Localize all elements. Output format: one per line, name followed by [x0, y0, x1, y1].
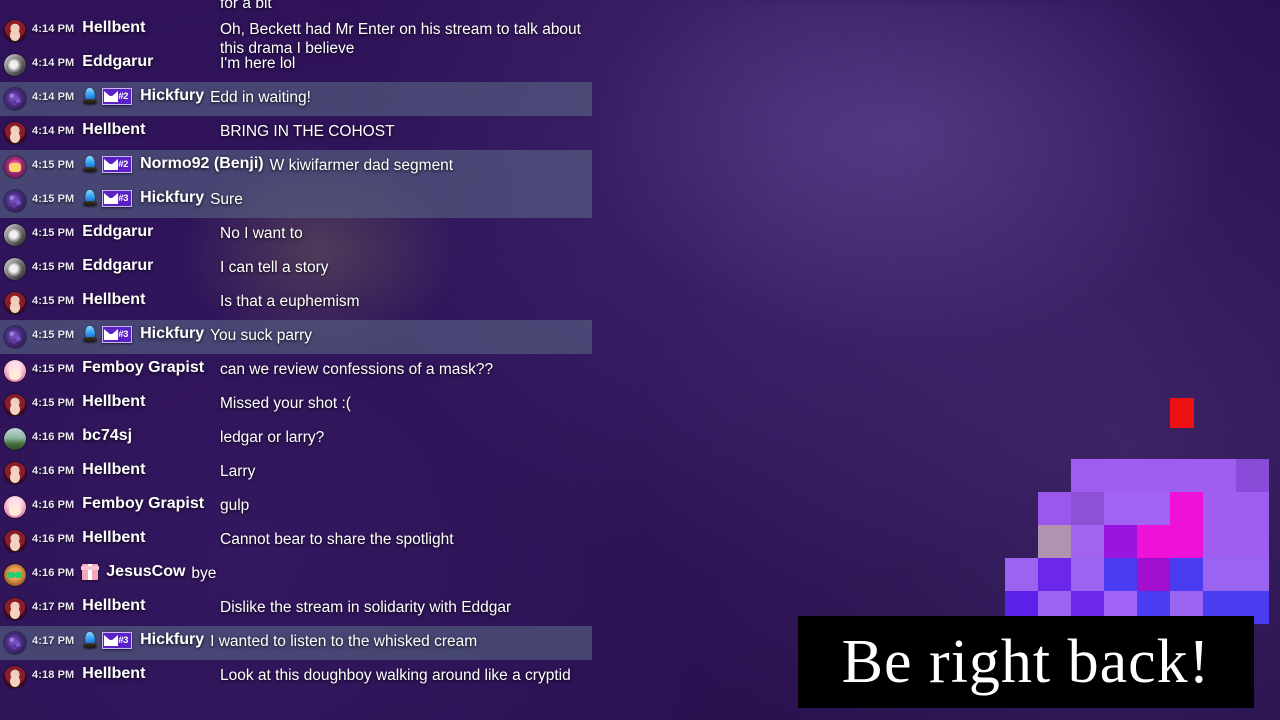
message-timestamp: 4:16 PM — [32, 465, 74, 477]
be-right-back-card: Be right back! — [798, 388, 1254, 708]
avatar[interactable] — [4, 224, 26, 246]
message-body: Missed your shot :( — [220, 394, 584, 413]
avatar[interactable] — [4, 530, 26, 552]
chat-message-row[interactable]: 4:17 PMHellbentDislike the stream in sol… — [0, 592, 592, 626]
avatar[interactable] — [4, 666, 26, 688]
message-username[interactable]: Hickfury — [140, 189, 204, 207]
flame-icon[interactable] — [82, 88, 98, 105]
crown-icon — [104, 635, 118, 646]
message-timestamp: 4:14 PM — [32, 91, 74, 103]
art-pixel — [1137, 525, 1203, 558]
art-pixel — [1104, 492, 1170, 525]
chat-message-row[interactable]: 4:15 PMEddgarurI can tell a story — [0, 252, 592, 286]
crown-icon — [104, 193, 118, 204]
rank-label: #3 — [118, 636, 129, 646]
message-text: Edd in waiting! — [210, 88, 592, 107]
flame-icon[interactable] — [82, 190, 98, 207]
be-right-back-banner: Be right back! — [798, 616, 1254, 708]
chat-message-row[interactable]: 4:16 PMHellbentLarry — [0, 456, 592, 490]
crown-icon — [104, 159, 118, 170]
chat-message-row[interactable]: 4:16 PMHellbentCannot bear to share the … — [0, 524, 592, 558]
chat-message-row[interactable]: 4:15 PM#3HickfuryYou suck parry — [0, 320, 592, 354]
avatar[interactable] — [4, 564, 26, 586]
message-timestamp: 4:16 PM — [32, 533, 74, 545]
message-username[interactable]: Hellbent — [82, 461, 145, 479]
message-body: Look at this doughboy walking around lik… — [220, 666, 584, 685]
message-text: I wanted to listen to the whisked cream — [210, 632, 592, 651]
message-username[interactable]: Eddgarur — [82, 53, 153, 71]
message-body: Edd in waiting! — [210, 87, 592, 107]
badge-group: #3 — [82, 326, 132, 343]
message-username[interactable]: Femboy Grapist — [82, 495, 204, 513]
art-pixel — [1071, 459, 1236, 492]
message-username[interactable]: Hellbent — [82, 665, 145, 683]
chat-message-row[interactable]: 4:14 PMHellbentOh, Beckett had Mr Enter … — [0, 14, 592, 48]
message-username[interactable]: Hellbent — [82, 597, 145, 615]
message-text: Dislike the stream in solidarity with Ed… — [220, 598, 584, 617]
crown-icon — [104, 91, 118, 102]
message-text: for a bit — [220, 0, 584, 13]
message-body: W kiwifarmer dad segment — [270, 155, 592, 175]
antenna-pixel — [1170, 398, 1194, 428]
message-username[interactable]: Normo92 (Benji) — [140, 155, 264, 173]
art-pixel — [1071, 558, 1104, 591]
pixel-art-character — [978, 388, 1190, 606]
message-username[interactable]: Eddgarur — [82, 223, 153, 241]
message-username[interactable]: Hickfury — [140, 87, 204, 105]
message-text: I can tell a story — [220, 258, 584, 277]
message-text: You suck parry — [210, 326, 592, 345]
message-text: ledgar or larry? — [220, 428, 584, 447]
message-text: Look at this doughboy walking around lik… — [220, 666, 584, 685]
art-pixel — [1038, 492, 1071, 525]
message-text: Sure — [210, 190, 592, 209]
avatar[interactable] — [4, 54, 26, 76]
avatar[interactable] — [4, 156, 26, 178]
message-timestamp: 4:15 PM — [32, 295, 74, 307]
avatar[interactable] — [4, 428, 26, 450]
message-text: BRING IN THE COHOST — [220, 122, 584, 141]
message-timestamp: 4:16 PM — [32, 431, 74, 443]
chat-message-row[interactable]: 4:18 PMHellbentLook at this doughboy wal… — [0, 660, 592, 694]
message-timestamp: 4:15 PM — [32, 329, 74, 341]
crown-rank-badge[interactable]: #2 — [102, 88, 132, 105]
message-body: Larry — [220, 462, 584, 481]
message-body: You suck parry — [210, 325, 592, 345]
message-username[interactable]: Hellbent — [82, 121, 145, 139]
background-haze — [600, 0, 1280, 380]
message-timestamp: 4:17 PM — [32, 635, 74, 647]
avatar[interactable] — [4, 190, 26, 212]
message-body: can we review confessions of a mask?? — [220, 360, 584, 379]
message-username[interactable]: JesusCow — [106, 563, 185, 581]
message-body: I'm here lol — [220, 54, 584, 73]
badge-group: #2 — [82, 88, 132, 105]
art-pixel — [1005, 558, 1038, 591]
art-pixel — [1203, 492, 1269, 525]
chat-message-row[interactable]: 4:14 PMHellbentBRING IN THE COHOST — [0, 116, 592, 150]
message-text: Cannot bear to share the spotlight — [220, 530, 584, 549]
message-body: Cannot bear to share the spotlight — [220, 530, 584, 549]
badge-group — [82, 564, 98, 580]
message-timestamp: 4:16 PM — [32, 567, 74, 579]
avatar[interactable] — [4, 496, 26, 518]
badge-group: #2 — [82, 156, 132, 173]
crown-rank-badge[interactable]: #2 — [102, 156, 132, 173]
message-username[interactable]: Hellbent — [82, 393, 145, 411]
message-timestamp: 4:15 PM — [32, 363, 74, 375]
flame-icon[interactable] — [82, 632, 98, 649]
message-text: can we review confessions of a mask?? — [220, 360, 584, 379]
art-pixel — [1203, 525, 1269, 558]
avatar[interactable] — [4, 360, 26, 382]
crown-rank-badge[interactable]: #3 — [102, 326, 132, 343]
art-pixel — [1170, 492, 1203, 525]
message-text: bye — [191, 564, 592, 583]
rank-label: #3 — [118, 330, 129, 340]
badge-group: #3 — [82, 632, 132, 649]
avatar[interactable] — [4, 462, 26, 484]
chat-message-row[interactable]: for a bit — [0, 0, 592, 14]
message-timestamp: 4:14 PM — [32, 57, 74, 69]
be-right-back-text: Be right back! — [842, 631, 1211, 693]
avatar[interactable] — [4, 292, 26, 314]
message-body: ledgar or larry? — [220, 428, 584, 447]
art-pixel — [1071, 492, 1104, 525]
message-username[interactable]: Hickfury — [140, 325, 204, 343]
message-text: I'm here lol — [220, 54, 584, 73]
chat-message-row[interactable]: 4:15 PMFemboy Grapistcan we review confe… — [0, 354, 592, 388]
message-timestamp: 4:16 PM — [32, 499, 74, 511]
message-username[interactable]: Eddgarur — [82, 257, 153, 275]
message-body: Is that a euphemism — [220, 292, 584, 311]
message-timestamp: 4:14 PM — [32, 125, 74, 137]
chat-message-row[interactable]: 4:14 PMEddgarurI'm here lol — [0, 48, 592, 82]
avatar[interactable] — [4, 20, 26, 42]
message-body: Dislike the stream in solidarity with Ed… — [220, 598, 584, 617]
message-body: Sure — [210, 189, 592, 209]
rank-label: #2 — [118, 92, 129, 102]
avatar[interactable] — [4, 326, 26, 348]
message-username[interactable]: Hickfury — [140, 631, 204, 649]
avatar[interactable] — [4, 632, 26, 654]
message-timestamp: 4:14 PM — [32, 23, 74, 35]
avatar[interactable] — [4, 258, 26, 280]
art-pixel — [1203, 558, 1269, 591]
flame-icon[interactable] — [82, 156, 98, 173]
rank-label: #3 — [118, 194, 129, 204]
message-timestamp: 4:15 PM — [32, 159, 74, 171]
message-body: bye — [191, 563, 592, 583]
art-pixel — [1038, 525, 1071, 558]
message-username[interactable]: Hellbent — [82, 19, 145, 37]
art-pixel — [1236, 459, 1269, 492]
avatar[interactable] — [4, 598, 26, 620]
crown-icon — [104, 329, 118, 340]
chat-message-row[interactable]: 4:16 PMFemboy Grapistgulp — [0, 490, 592, 524]
chat-message-row[interactable]: 4:15 PMHellbentIs that a euphemism — [0, 286, 592, 320]
crown-rank-badge[interactable]: #3 — [102, 190, 132, 207]
message-timestamp: 4:15 PM — [32, 193, 74, 205]
crown-rank-badge[interactable]: #3 — [102, 632, 132, 649]
message-body: gulp — [220, 496, 584, 515]
art-pixel — [1170, 558, 1203, 591]
art-pixel — [1038, 558, 1071, 591]
chat-message-row[interactable]: 4:15 PMEddgarurNo I want to — [0, 218, 592, 252]
chat-message-row[interactable]: 4:15 PM#2Normo92 (Benji)W kiwifarmer dad… — [0, 150, 592, 184]
avatar[interactable] — [4, 122, 26, 144]
message-text: Is that a euphemism — [220, 292, 584, 311]
art-pixel — [1104, 558, 1137, 591]
message-text: Larry — [220, 462, 584, 481]
message-username[interactable]: Hellbent — [82, 291, 145, 309]
chat-message-row[interactable]: 4:15 PM#3HickfurySure — [0, 184, 592, 218]
message-text: No I want to — [220, 224, 584, 243]
message-timestamp: 4:15 PM — [32, 397, 74, 409]
chat-message-row[interactable]: 4:17 PM#3HickfuryI wanted to listen to t… — [0, 626, 592, 660]
art-pixel — [1137, 558, 1170, 591]
message-username[interactable]: Hellbent — [82, 529, 145, 547]
message-body: BRING IN THE COHOST — [220, 122, 584, 141]
message-username[interactable]: Femboy Grapist — [82, 359, 204, 377]
message-body: No I want to — [220, 224, 584, 243]
message-timestamp: 4:17 PM — [32, 601, 74, 613]
message-timestamp: 4:15 PM — [32, 227, 74, 239]
flame-icon[interactable] — [82, 326, 98, 343]
message-body: I wanted to listen to the whisked cream — [210, 631, 592, 651]
message-text: W kiwifarmer dad segment — [270, 156, 592, 175]
message-timestamp: 4:18 PM — [32, 669, 74, 681]
avatar[interactable] — [4, 88, 26, 110]
chat-message-row[interactable]: 4:16 PMJesusCowbye — [0, 558, 592, 592]
message-timestamp: 4:15 PM — [32, 261, 74, 273]
message-text: gulp — [220, 496, 584, 515]
avatar[interactable] — [4, 394, 26, 416]
rank-label: #2 — [118, 160, 129, 170]
message-username[interactable]: bc74sj — [82, 427, 132, 445]
chat-message-row[interactable]: 4:15 PMHellbentMissed your shot :( — [0, 388, 592, 422]
gift-icon[interactable] — [82, 564, 98, 580]
art-pixel — [1104, 525, 1137, 558]
badge-group: #3 — [82, 190, 132, 207]
art-pixel — [1071, 525, 1104, 558]
chat-overlay[interactable]: for a bit4:14 PMHellbentOh, Beckett had … — [0, 0, 592, 720]
message-text: Missed your shot :( — [220, 394, 584, 413]
message-body: I can tell a story — [220, 258, 584, 277]
chat-message-row[interactable]: 4:16 PMbc74sjledgar or larry? — [0, 422, 592, 456]
message-body: for a bit — [220, 0, 584, 13]
chat-message-row[interactable]: 4:14 PM#2HickfuryEdd in waiting! — [0, 82, 592, 116]
